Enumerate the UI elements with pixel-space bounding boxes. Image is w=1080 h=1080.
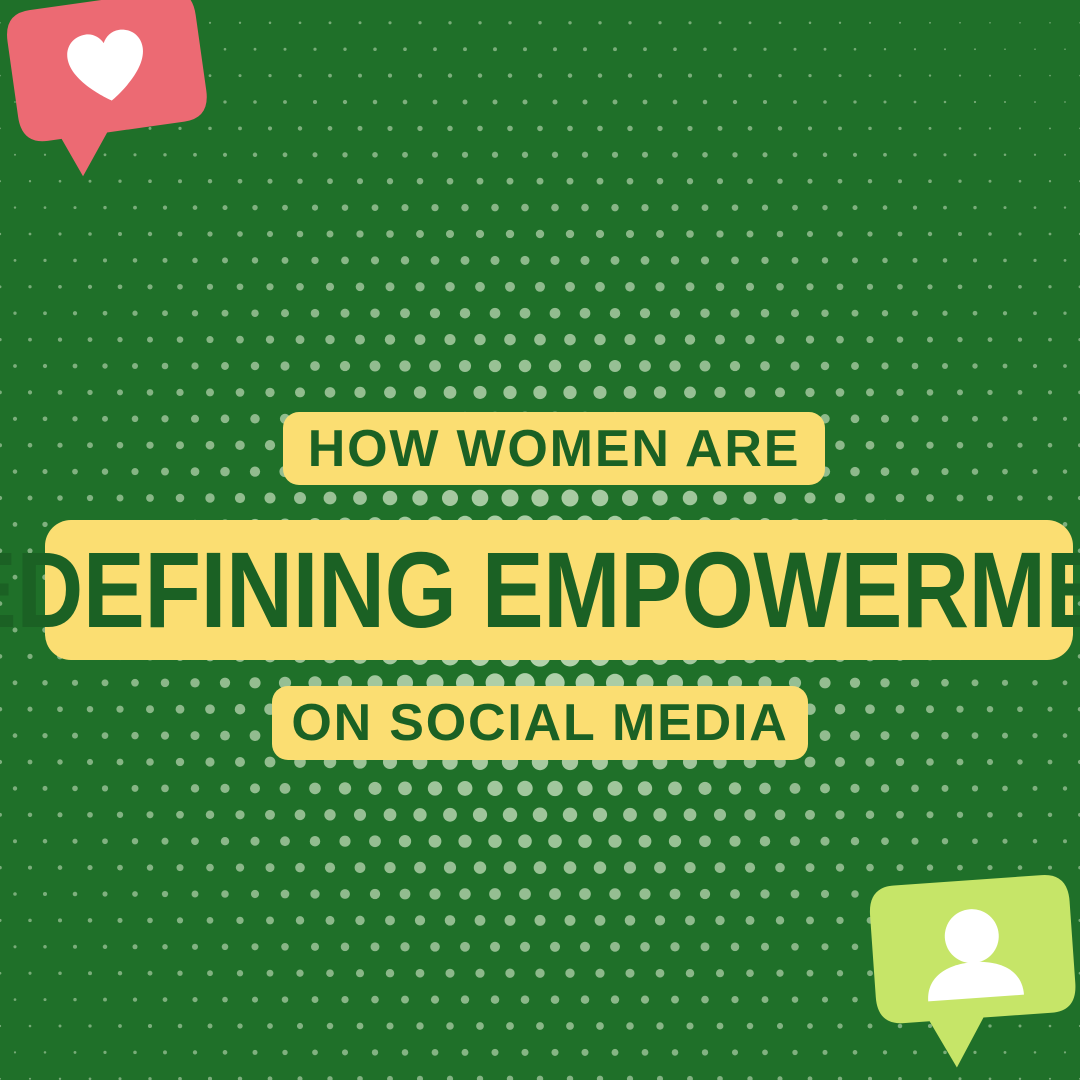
headline-line3-text: ON SOCIAL MEDIA [291,697,788,749]
follow-notification-bubble [858,868,1080,1080]
headline-line1-text: HOW WOMEN ARE [308,423,801,475]
headline-band-line1: HOW WOMEN ARE [283,412,825,485]
headline-band-line3: ON SOCIAL MEDIA [272,686,808,760]
poster-canvas: HOW WOMEN ARE REDEFINING EMPOWERMENT ON … [0,0,1080,1080]
like-notification-bubble [0,0,222,191]
headline-line2-text: REDEFINING EMPOWERMENT [0,536,1080,644]
headline-band-line2: REDEFINING EMPOWERMENT [45,520,1073,660]
